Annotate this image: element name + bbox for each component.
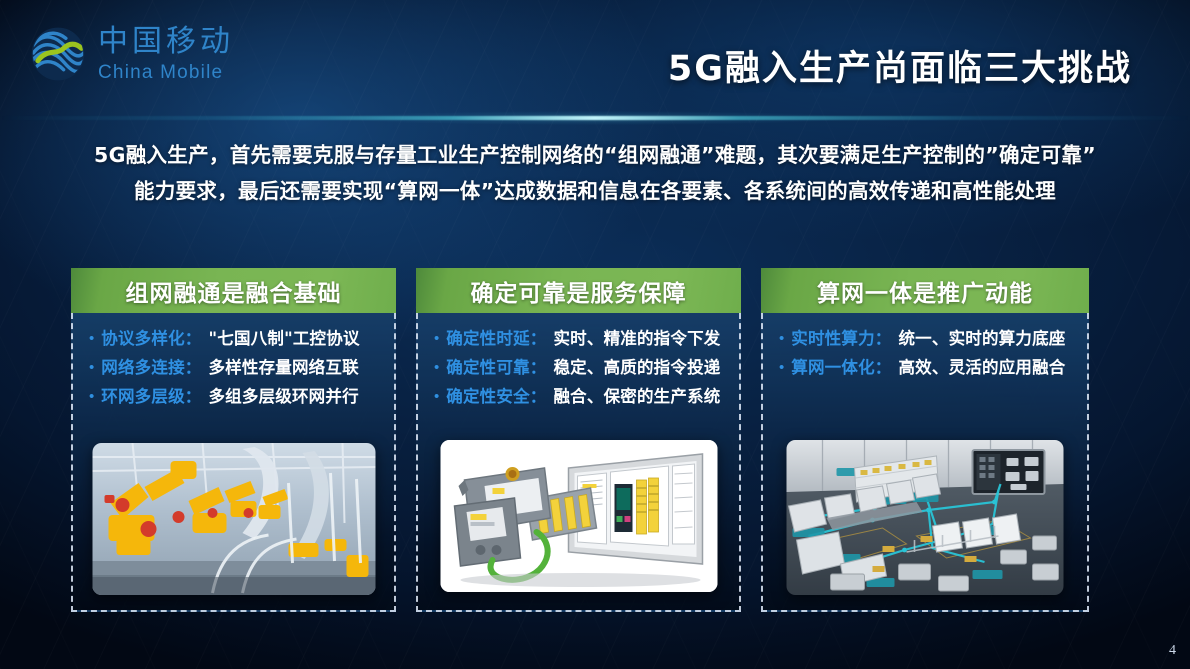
challenge-cards: 组网融通是融合基础 • 协议多样化： "七国八制"工控协议 • 网络多连接： 多… xyxy=(0,268,1190,616)
plc-industrial-controller-software-photo xyxy=(440,440,717,592)
bullet-dot-icon: • xyxy=(89,389,94,404)
bullet-value: "七国八制"工控协议 xyxy=(208,325,359,349)
brand-name-cn: 中国移动 xyxy=(98,27,234,57)
list-item: • 实时性算力： 统一、实时的算力底座 xyxy=(779,325,1079,349)
card-title-1: 组网融通是融合基础 xyxy=(126,274,342,308)
card-header-3: 算网一体是推广动能 xyxy=(761,268,1089,313)
header-divider xyxy=(0,116,1190,120)
bullet-value: 融合、保密的生产系统 xyxy=(553,383,720,407)
card-deterministic-reliability: 确定可靠是服务保障 • 确定性时延： 实时、精准的指令下发 • 确定性可靠： 稳… xyxy=(416,268,741,612)
brand-logo-text: 中国移动 China Mobile xyxy=(98,27,234,82)
card-networking-integration: 组网融通是融合基础 • 协议多样化： "七国八制"工控协议 • 网络多连接： 多… xyxy=(71,268,396,612)
bullet-value: 高效、灵活的应用融合 xyxy=(898,354,1065,378)
bullet-value: 多组多层级环网并行 xyxy=(208,383,358,407)
card-header-2: 确定可靠是服务保障 xyxy=(416,268,741,313)
list-item: • 环网多层级： 多组多层级环网并行 xyxy=(89,383,386,407)
slide-header: 中国移动 China Mobile 5G融入生产尚面临三大挑战 xyxy=(0,0,1190,118)
industrial-robot-arms-factory-photo xyxy=(92,443,375,595)
bullet-dot-icon: • xyxy=(434,389,439,404)
list-item: • 协议多样化： "七国八制"工控协议 xyxy=(89,325,386,349)
china-mobile-logo-icon xyxy=(30,26,86,82)
subtitle-line-1: 5G融入生产，首先需要克服与存量工业生产控制网络的“组网融通”难题，其次要满足生… xyxy=(40,137,1150,173)
bullet-dot-icon: • xyxy=(434,331,439,346)
bullet-list-3: • 实时性算力： 统一、实时的算力底座 • 算网一体化： 高效、灵活的应用融合 xyxy=(771,325,1079,378)
brand-logo-block: 中国移动 China Mobile xyxy=(30,26,234,82)
card-title-3: 算网一体是推广动能 xyxy=(817,274,1033,308)
bullet-dot-icon: • xyxy=(434,360,439,375)
list-item: • 确定性安全： 融合、保密的生产系统 xyxy=(434,383,731,407)
bullet-label: 算网一体化： xyxy=(791,354,891,378)
list-item: • 网络多连接： 多样性存量网络互联 xyxy=(89,354,386,378)
card-body-3: • 实时性算力： 统一、实时的算力底座 • 算网一体化： 高效、灵活的应用融合 xyxy=(761,313,1089,612)
bullet-dot-icon: • xyxy=(779,360,784,375)
bullet-label: 协议多样化： xyxy=(101,325,201,349)
bullet-value: 统一、实时的算力底座 xyxy=(898,325,1065,349)
list-item: • 确定性可靠： 稳定、高质的指令投递 xyxy=(434,354,731,378)
bullet-label: 环网多层级： xyxy=(101,383,201,407)
card-compute-network-integration: 算网一体是推广动能 • 实时性算力： 统一、实时的算力底座 • 算网一体化： 高… xyxy=(761,268,1089,612)
bullet-value: 多样性存量网络互联 xyxy=(208,354,358,378)
list-item: • 算网一体化： 高效、灵活的应用融合 xyxy=(779,354,1079,378)
slide-canvas: 中国移动 China Mobile 5G融入生产尚面临三大挑战 5G融入生产，首… xyxy=(0,0,1190,669)
digital-twin-smart-factory-3d-photo xyxy=(787,440,1064,595)
bullet-value: 稳定、高质的指令投递 xyxy=(553,354,720,378)
card-body-2: • 确定性时延： 实时、精准的指令下发 • 确定性可靠： 稳定、高质的指令投递 … xyxy=(416,313,741,612)
card-body-1: • 协议多样化： "七国八制"工控协议 • 网络多连接： 多样性存量网络互联 •… xyxy=(71,313,396,612)
page-title: 5G融入生产尚面临三大挑战 xyxy=(668,40,1132,91)
page-number: 4 xyxy=(1169,643,1176,659)
card-header-1: 组网融通是融合基础 xyxy=(71,268,396,313)
subtitle-paragraph: 5G融入生产，首先需要克服与存量工业生产控制网络的“组网融通”难题，其次要满足生… xyxy=(40,137,1150,209)
bullet-label: 确定性安全： xyxy=(446,383,546,407)
bullet-dot-icon: • xyxy=(89,331,94,346)
bullet-list-2: • 确定性时延： 实时、精准的指令下发 • 确定性可靠： 稳定、高质的指令投递 … xyxy=(426,325,731,407)
bullet-dot-icon: • xyxy=(89,360,94,375)
bullet-label: 实时性算力： xyxy=(791,325,891,349)
list-item: • 确定性时延： 实时、精准的指令下发 xyxy=(434,325,731,349)
brand-name-en: China Mobile xyxy=(98,63,234,82)
card-title-2: 确定可靠是服务保障 xyxy=(471,274,687,308)
bullet-label: 确定性时延： xyxy=(446,325,546,349)
subtitle-line-2: 能力要求，最后还需要实现“算网一体”达成数据和信息在各要素、各系统间的高效传递和… xyxy=(40,173,1150,209)
bullet-label: 确定性可靠： xyxy=(446,354,546,378)
bullet-list-1: • 协议多样化： "七国八制"工控协议 • 网络多连接： 多样性存量网络互联 •… xyxy=(81,325,386,407)
bullet-label: 网络多连接： xyxy=(101,354,201,378)
bullet-value: 实时、精准的指令下发 xyxy=(553,325,720,349)
bullet-dot-icon: • xyxy=(779,331,784,346)
